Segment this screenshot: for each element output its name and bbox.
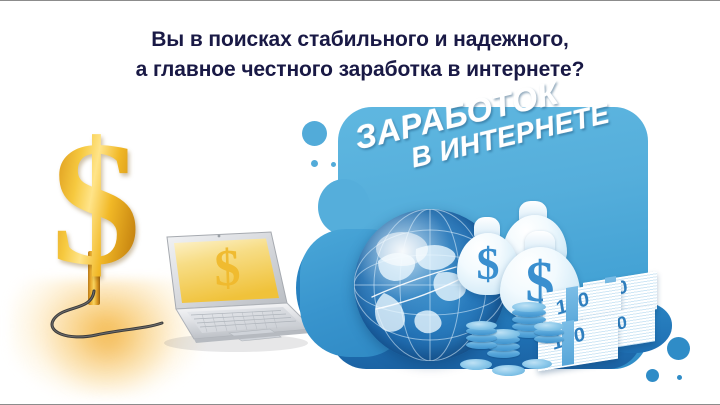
decor-circle-4 bbox=[667, 337, 690, 360]
coin-stack-d-top bbox=[534, 322, 564, 331]
coin-stack-c-1 bbox=[466, 341, 497, 349]
decor-circle-5 bbox=[646, 369, 659, 382]
coin-loose-1 bbox=[460, 359, 492, 370]
coin-stack-d-1 bbox=[534, 335, 564, 343]
dollar-sign-icon: $ bbox=[36, 123, 156, 283]
coin-stack-a-top bbox=[512, 302, 546, 312]
headline-line-2: а главное честного заработка в интернете… bbox=[0, 55, 720, 85]
coin-stack-c-2 bbox=[466, 334, 497, 342]
coin-stack-c-top bbox=[466, 321, 497, 330]
page-title: Вы в поисках стабильного и надежного, а … bbox=[0, 25, 720, 85]
decor-circle-6 bbox=[677, 375, 682, 380]
laptop-illustration: $ bbox=[150, 229, 320, 354]
decor-circle-2 bbox=[311, 160, 318, 167]
decor-circle-3 bbox=[331, 162, 336, 167]
svg-text:$: $ bbox=[213, 240, 241, 298]
slide-canvas: Вы в поисках стабильного и надежного, а … bbox=[0, 0, 720, 405]
decor-circle-1 bbox=[302, 121, 327, 146]
headline-line-1: Вы в поисках стабильного и надежного, bbox=[0, 25, 720, 55]
coin-loose-2 bbox=[492, 365, 525, 376]
coin-loose-3 bbox=[522, 359, 552, 369]
